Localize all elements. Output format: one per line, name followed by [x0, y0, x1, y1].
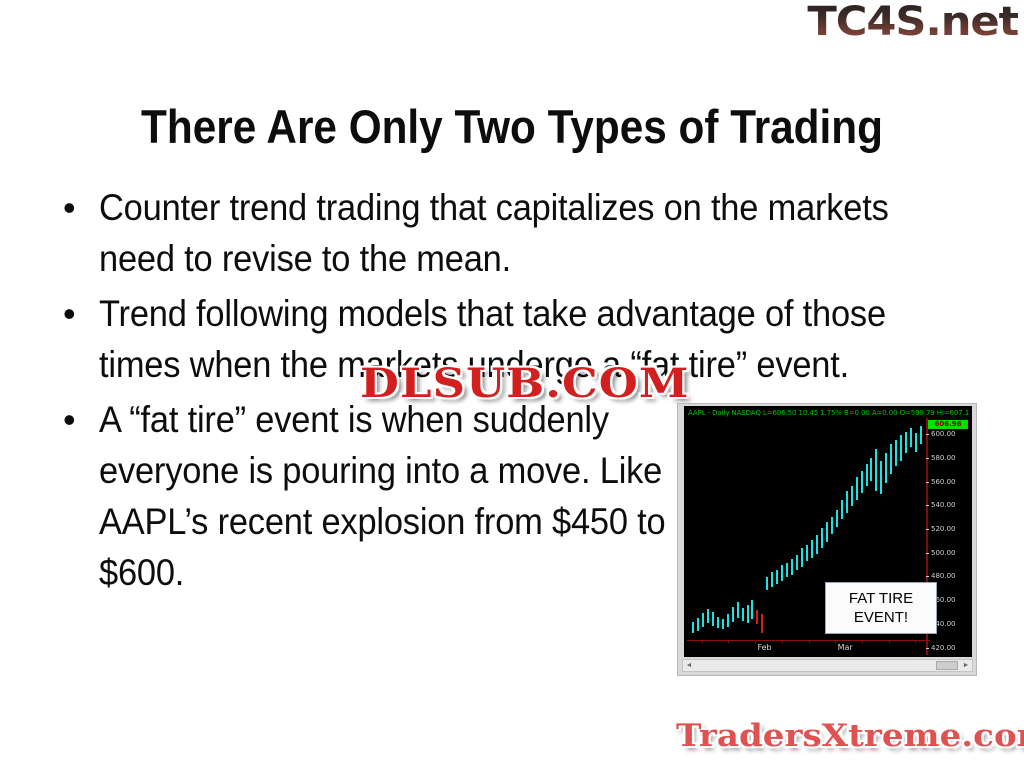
candle-bar — [722, 619, 724, 629]
price-axis-tick — [926, 576, 929, 577]
candle-wick — [806, 545, 808, 562]
candle-wick — [727, 614, 729, 626]
price-axis-label: 500.00 — [931, 549, 956, 557]
candle-bar — [905, 432, 907, 453]
chart-canvas: AAPL - Daily NASDAQ L=606.50 10.45 1.75%… — [684, 406, 972, 657]
candle-wick — [836, 510, 838, 528]
candle-wick — [831, 517, 833, 534]
aapl-chart-window: AAPL - Daily NASDAQ L=606.50 10.45 1.75%… — [677, 403, 977, 676]
candle-wick — [811, 540, 813, 558]
candle-wick — [781, 565, 783, 582]
candle-wick — [875, 449, 877, 491]
time-axis-label: Mar — [838, 643, 853, 653]
list-item: • Counter trend trading that capitalizes… — [55, 182, 980, 284]
candle-bar — [742, 608, 744, 621]
candle-bar — [756, 610, 758, 624]
callout-line-1: FAT TIRE — [826, 589, 936, 608]
candle-wick — [885, 453, 887, 483]
time-axis-tick — [728, 640, 729, 643]
candle-wick — [692, 622, 694, 633]
candle-bar — [866, 464, 868, 486]
time-axis-tick — [809, 640, 810, 643]
time-axis-tick — [862, 640, 863, 643]
callout-line-2: EVENT! — [826, 608, 936, 627]
candle-wick — [900, 435, 902, 460]
candle-wick — [742, 608, 744, 621]
time-axis-tick — [915, 640, 916, 643]
candle-bar — [702, 613, 704, 626]
candle-wick — [771, 572, 773, 586]
tc4s-watermark: TC4S.net — [807, 2, 1018, 42]
price-axis-label: 520.00 — [931, 525, 956, 533]
candle-bar — [776, 570, 778, 583]
candle-bar — [737, 602, 739, 617]
candle-bar — [732, 607, 734, 622]
candle-bar — [870, 458, 872, 481]
candle-wick — [751, 600, 753, 619]
candle-bar — [880, 461, 882, 494]
candle-wick — [747, 605, 749, 624]
candle-bar — [771, 572, 773, 586]
page-title: There Are Only Two Types of Trading — [51, 99, 973, 154]
price-axis-tick — [926, 458, 929, 459]
candle-wick — [890, 444, 892, 474]
price-axis-label: 540.00 — [931, 501, 956, 509]
candle-wick — [756, 610, 758, 624]
candle-bar — [781, 565, 783, 582]
candle-wick — [920, 426, 922, 445]
candle-wick — [870, 458, 872, 481]
bullet-marker-icon: • — [55, 394, 99, 446]
price-axis-label: 560.00 — [931, 478, 956, 486]
candle-bar — [712, 612, 714, 625]
time-axis-tick — [755, 640, 756, 643]
candle-bar — [747, 605, 749, 624]
candle-bar — [821, 528, 823, 548]
candle-wick — [861, 471, 863, 493]
chart-horizontal-scrollbar[interactable]: ◄ ► — [682, 659, 973, 672]
candle-wick — [841, 500, 843, 520]
candle-wick — [712, 612, 714, 625]
candle-wick — [722, 619, 724, 629]
candle-bar — [692, 622, 694, 633]
bullet-text: Counter trend trading that capitalizes o… — [99, 182, 918, 284]
candle-bar — [920, 426, 922, 445]
bullet-marker-icon: • — [55, 182, 99, 234]
candle-wick — [761, 614, 763, 633]
price-axis-label: 420.00 — [931, 644, 956, 652]
candle-bar — [766, 577, 768, 590]
candle-wick — [856, 477, 858, 499]
time-axis-tick — [835, 640, 836, 643]
candle-bar — [895, 440, 897, 467]
candle-bar — [816, 535, 818, 554]
candle-bar — [806, 545, 808, 562]
candle-bar — [831, 517, 833, 534]
candle-bar — [811, 540, 813, 558]
candle-wick — [801, 548, 803, 567]
time-axis: FebMar — [687, 640, 930, 657]
candle-bar — [900, 435, 902, 460]
price-axis-label: 600.00 — [931, 430, 956, 438]
candle-wick — [851, 486, 853, 506]
price-axis-tick — [926, 553, 929, 554]
candle-bar — [875, 449, 877, 491]
candle-wick — [702, 613, 704, 626]
fat-tire-event-callout: FAT TIRE EVENT! — [825, 582, 937, 634]
candle-bar — [707, 609, 709, 623]
candle-wick — [816, 535, 818, 554]
candle-bar — [751, 600, 753, 619]
candle-bar — [856, 477, 858, 499]
candle-wick — [786, 563, 788, 577]
price-axis-tick — [926, 529, 929, 530]
candle-bar — [890, 444, 892, 474]
scrollbar-thumb[interactable] — [936, 661, 958, 670]
candle-wick — [776, 570, 778, 583]
candle-wick — [826, 522, 828, 542]
candle-wick — [846, 491, 848, 513]
candle-wick — [915, 433, 917, 452]
candle-bar — [761, 614, 763, 633]
candle-wick — [697, 618, 699, 631]
bullet-marker-icon: • — [55, 288, 99, 340]
candle-wick — [717, 617, 719, 628]
candle-wick — [766, 577, 768, 590]
dlsub-watermark: DLSUB.COM — [360, 360, 690, 407]
candle-bar — [910, 428, 912, 447]
price-axis-tick — [926, 434, 929, 435]
candle-bar — [836, 510, 838, 528]
scroll-right-arrow-icon[interactable]: ► — [960, 660, 972, 671]
candle-bar — [796, 555, 798, 570]
candle-bar — [915, 433, 917, 452]
candle-bar — [717, 617, 719, 628]
time-axis-label: Feb — [757, 643, 771, 653]
candle-bar — [841, 500, 843, 520]
candle-bar — [786, 563, 788, 577]
candle-bar — [885, 453, 887, 483]
candle-wick — [895, 440, 897, 467]
candle-bar — [826, 522, 828, 542]
candle-bar — [846, 491, 848, 513]
candle-wick — [905, 432, 907, 453]
time-axis-tick — [889, 640, 890, 643]
candle-bar — [851, 486, 853, 506]
tradersxtreme-watermark: TradersXtreme.com — [676, 718, 1024, 754]
candle-wick — [732, 607, 734, 622]
time-axis-tick — [782, 640, 783, 643]
candle-bar — [801, 548, 803, 567]
price-axis-tick — [926, 505, 929, 506]
candle-wick — [737, 602, 739, 617]
candle-wick — [880, 461, 882, 494]
last-price-badge: 606.96 — [928, 420, 968, 429]
price-axis-tick — [926, 482, 929, 483]
candle-wick — [707, 609, 709, 623]
candle-bar — [727, 614, 729, 626]
price-axis-label: 580.00 — [931, 454, 956, 462]
candle-wick — [821, 528, 823, 548]
candle-bar — [861, 471, 863, 493]
candle-bar — [697, 618, 699, 631]
bullet-text: A “fat tire” event is when suddenly ever… — [99, 394, 694, 598]
candle-wick — [796, 555, 798, 570]
candle-wick — [866, 464, 868, 486]
time-axis-tick — [702, 640, 703, 643]
candle-wick — [791, 559, 793, 574]
candle-bar — [791, 559, 793, 574]
price-axis-label: 480.00 — [931, 572, 956, 580]
candle-wick — [910, 428, 912, 447]
scroll-left-arrow-icon[interactable]: ◄ — [683, 660, 695, 671]
